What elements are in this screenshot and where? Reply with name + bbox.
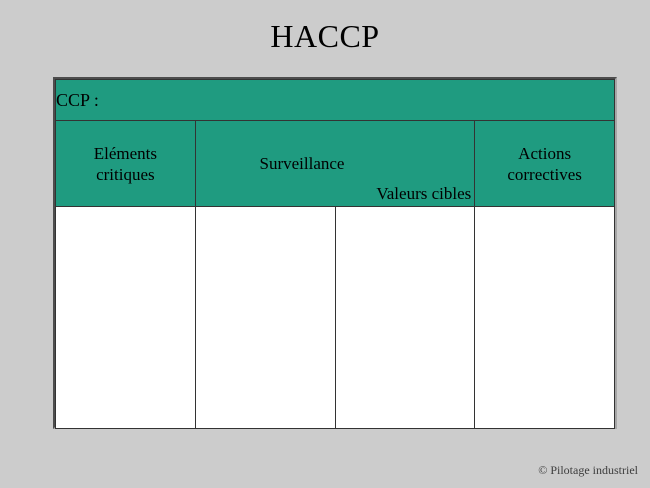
table-row-body <box>56 207 615 429</box>
header-label-elements-line1: Eléments <box>94 144 157 163</box>
haccp-table: CCP : Eléments critiques Surveillance Va… <box>55 79 615 429</box>
header-label-actions-line2: correctives <box>507 165 582 184</box>
footer-credit: © Pilotage industriel <box>538 463 638 478</box>
header-cell-surveillance: Surveillance Valeurs cibles <box>195 121 475 207</box>
table-row-header: Eléments critiques Surveillance Valeurs … <box>56 121 615 207</box>
header-cell-actions-correctives: Actions correctives <box>475 121 615 207</box>
slide-canvas: HACCP CCP : Eléments critiques Surveilla… <box>0 0 650 488</box>
body-cell-valeurs-cibles[interactable] <box>335 207 475 429</box>
page-title: HACCP <box>0 16 650 56</box>
header-cell-elements-critiques: Eléments critiques <box>56 121 196 207</box>
body-cell-surveillance-methode[interactable] <box>195 207 335 429</box>
table-row-ccp: CCP : <box>56 80 615 121</box>
body-cell-elements-critiques[interactable] <box>56 207 196 429</box>
header-label-valeurs-cibles: Valeurs cibles <box>376 183 471 204</box>
body-cell-actions-correctives[interactable] <box>475 207 615 429</box>
header-label-actions-line1: Actions <box>518 144 571 163</box>
haccp-table-container: CCP : Eléments critiques Surveillance Va… <box>53 77 617 429</box>
header-label-elements-line2: critiques <box>96 165 155 184</box>
header-label-surveillance: Surveillance <box>196 153 475 174</box>
ccp-label-cell: CCP : <box>56 80 615 121</box>
